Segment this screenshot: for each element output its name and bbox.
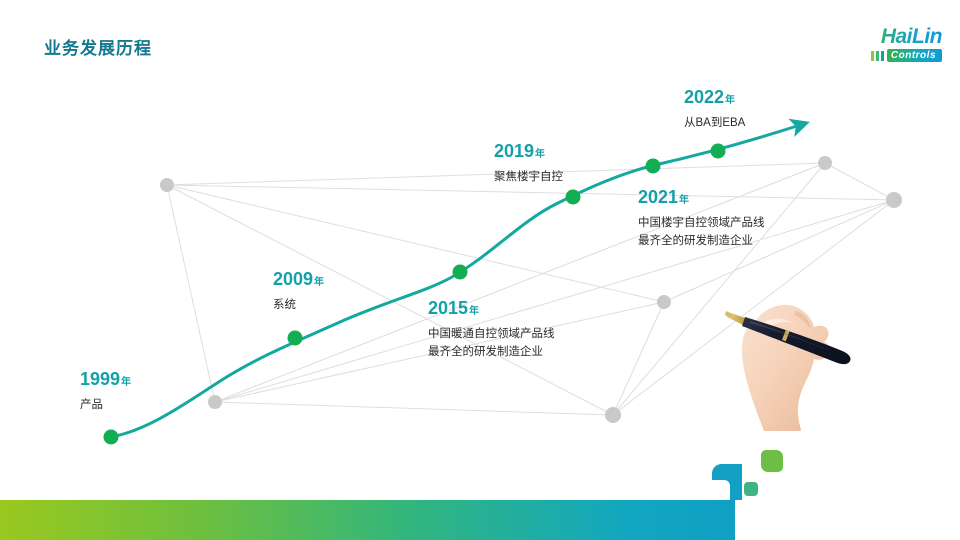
milestone-description-2021: 中国楼宇自控领域产品线最齐全的研发制造企业: [638, 215, 765, 251]
milestone-year-suffix: 年: [314, 277, 324, 288]
milestone-dot-1999[interactable]: [104, 430, 119, 445]
milestone-year-number: 2019: [494, 141, 534, 161]
milestone-2015[interactable]: 2015年中国暖通自控领域产品线最齐全的研发制造企业: [428, 299, 555, 362]
milestone-description-line: 中国楼宇自控领域产品线: [638, 215, 765, 233]
milestone-2009[interactable]: 2009年系统: [273, 270, 324, 315]
growth-curve-graphic: [0, 0, 960, 540]
growth-curve-line: [111, 126, 797, 437]
milestone-year-2015: 2015年: [428, 299, 555, 317]
milestone-year-suffix: 年: [535, 149, 545, 160]
milestone-year-2022: 2022年: [684, 88, 745, 106]
bottom-gradient-bar: [0, 500, 735, 540]
milestone-year-1999: 1999年: [80, 370, 131, 388]
milestone-year-2009: 2009年: [273, 270, 324, 288]
milestone-description-line: 中国暖通自控领域产品线: [428, 326, 555, 344]
milestone-2019[interactable]: 2019年聚焦楼宇自控: [494, 142, 563, 187]
hand-holding-pen: [700, 281, 886, 431]
milestone-1999[interactable]: 1999年产品: [80, 370, 131, 415]
milestone-year-suffix: 年: [679, 195, 689, 206]
milestone-description-line: 系统: [273, 297, 324, 315]
milestone-dot-2019[interactable]: [566, 190, 581, 205]
milestone-year-number: 2009: [273, 269, 313, 289]
milestone-year-2019: 2019年: [494, 142, 563, 160]
milestone-year-number: 2022: [684, 87, 724, 107]
timeline-stage: 1999年产品2009年系统2015年中国暖通自控领域产品线最齐全的研发制造企业…: [0, 0, 960, 540]
milestone-2022[interactable]: 2022年从BA到EBA: [684, 88, 745, 133]
milestone-2021[interactable]: 2021年中国楼宇自控领域产品线最齐全的研发制造企业: [638, 188, 765, 251]
milestone-description-line: 最齐全的研发制造企业: [428, 344, 555, 362]
milestone-year-number: 1999: [80, 369, 120, 389]
milestone-description-2009: 系统: [273, 297, 324, 315]
milestone-description-2015: 中国暖通自控领域产品线最齐全的研发制造企业: [428, 326, 555, 362]
milestone-description-2019: 聚焦楼宇自控: [494, 169, 563, 187]
milestone-year-suffix: 年: [121, 377, 131, 388]
milestone-year-2021: 2021年: [638, 188, 765, 206]
milestone-dot-2009[interactable]: [288, 331, 303, 346]
milestone-description-line: 从BA到EBA: [684, 115, 745, 133]
milestone-year-number: 2021: [638, 187, 678, 207]
milestone-description-line: 最齐全的研发制造企业: [638, 233, 765, 251]
milestone-description-1999: 产品: [80, 397, 131, 415]
milestone-description-line: 产品: [80, 397, 131, 415]
milestone-dot-2022[interactable]: [711, 144, 726, 159]
milestone-year-suffix: 年: [725, 95, 735, 106]
milestone-description-2022: 从BA到EBA: [684, 115, 745, 133]
deco-green-square: [761, 450, 783, 472]
milestone-year-number: 2015: [428, 298, 468, 318]
milestone-dot-2021[interactable]: [646, 159, 661, 174]
milestone-year-suffix: 年: [469, 306, 479, 317]
milestone-description-line: 聚焦楼宇自控: [494, 169, 563, 187]
deco-small-teal-square: [744, 482, 758, 496]
slide-canvas: 业务发展历程 HaiLin Controls 1999年产品2009年系统201…: [0, 0, 960, 540]
milestone-dot-2015[interactable]: [453, 265, 468, 280]
